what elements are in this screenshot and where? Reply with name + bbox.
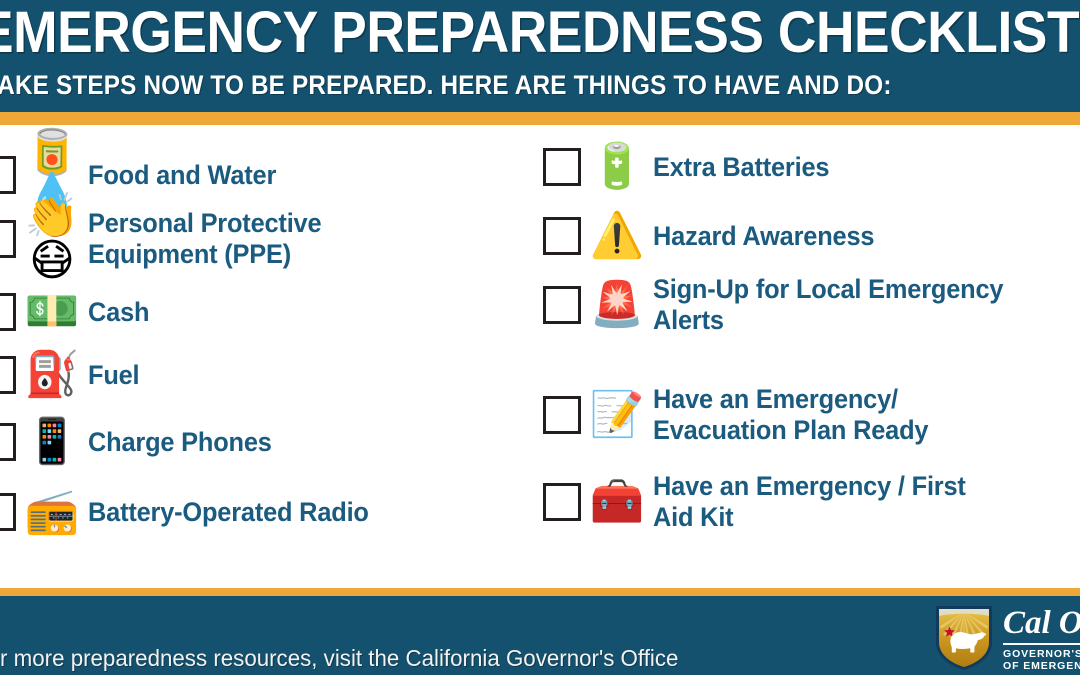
checklist-item[interactable]: 👏😷Personal Protective Equipment (PPE) xyxy=(0,207,518,271)
checklist-item-label: Fuel xyxy=(88,360,492,391)
checklist-item-label: Charge Phones xyxy=(88,427,492,458)
header-banner: EMERGENCY PREPAREDNESS CHECKLIST TAKE ST… xyxy=(0,0,1080,112)
checklist-item[interactable]: 📱Charge Phones xyxy=(0,410,518,474)
checkbox[interactable] xyxy=(0,220,16,258)
mobile-phone-icon: 📱 xyxy=(16,420,88,464)
checklist-item[interactable]: 🧰Have an Emergency / First Aid Kit xyxy=(543,470,1080,534)
checklist-item[interactable]: ⛽Fuel xyxy=(0,343,518,407)
california-bear-shield-icon xyxy=(936,606,992,670)
clipboard-with-pencil-icon: 📝 xyxy=(581,393,653,437)
warning-triangle-icon: ⚠️ xyxy=(581,214,653,258)
gloves-and-face-mask-icon: 👏😷 xyxy=(16,195,88,283)
footer-banner: For more preparedness resources, visit t… xyxy=(0,596,1080,675)
checkbox[interactable] xyxy=(543,217,581,255)
checkbox[interactable] xyxy=(543,483,581,521)
checkbox[interactable] xyxy=(0,423,16,461)
radio-icon: 📻 xyxy=(16,490,88,534)
checklist-item[interactable]: 🔋Extra Batteries xyxy=(543,135,1080,199)
logo-divider-rule xyxy=(1003,643,1080,645)
cal-oes-tagline: GOVERNOR'S OFFICE OF EMERGENCY SERVICES xyxy=(1003,648,1080,672)
gold-divider-bottom xyxy=(0,588,1080,596)
first-aid-kit-icon: 🧰 xyxy=(581,480,653,524)
cal-oes-logo: Cal OES GOVERNOR'S OFFICE OF EMERGENCY S… xyxy=(936,605,1080,671)
checklist-item[interactable]: 💵Cash xyxy=(0,280,518,344)
checklist-item-label: Food and Water xyxy=(88,160,492,191)
checklist-column-left: 🥫💧Food and Water👏😷Personal Protective Eq… xyxy=(0,125,518,588)
dollar-banknotes-icon: 💵 xyxy=(16,290,88,334)
rotating-alert-light-icon: 🚨 xyxy=(581,283,653,327)
page-title: EMERGENCY PREPAREDNESS CHECKLIST xyxy=(0,2,1027,64)
cal-oes-wordmark: Cal OES GOVERNOR'S OFFICE OF EMERGENCY S… xyxy=(1003,605,1080,672)
checklist-item-label: Hazard Awareness xyxy=(653,221,1076,252)
checkbox[interactable] xyxy=(0,356,16,394)
checkbox[interactable] xyxy=(0,293,16,331)
checklist-item-label: Cash xyxy=(88,297,492,328)
checklist-item-label: Sign-Up for Local Emergency Alerts xyxy=(653,274,1076,336)
footer-line-1: For more preparedness resources, visit t… xyxy=(0,645,678,671)
gold-divider-top xyxy=(0,112,1080,125)
checklist-item-label: Have an Emergency/ Evacuation Plan Ready xyxy=(653,384,1076,446)
checklist-column-right: 🔋Extra Batteries⚠️Hazard Awareness🚨Sign-… xyxy=(543,125,1080,588)
checkbox[interactable] xyxy=(0,493,16,531)
footer-text: For more preparedness resources, visit t… xyxy=(0,609,847,675)
checkbox[interactable] xyxy=(0,156,16,194)
header-subtitle: TAKE STEPS NOW TO BE PREPARED. HERE ARE … xyxy=(0,70,1028,100)
checklist-item[interactable]: 📝Have an Emergency/ Evacuation Plan Read… xyxy=(543,383,1080,447)
checklist-item-label: Personal Protective Equipment (PPE) xyxy=(88,208,492,270)
checkbox[interactable] xyxy=(543,148,581,186)
checklist-item[interactable]: 🚨Sign-Up for Local Emergency Alerts xyxy=(543,273,1080,337)
cal-oes-name: Cal OES xyxy=(1003,607,1080,640)
battery-icon: 🔋 xyxy=(581,145,653,189)
checkbox[interactable] xyxy=(543,286,581,324)
fuel-pump-icon: ⛽ xyxy=(16,353,88,397)
checklist-item[interactable]: 📻Battery-Operated Radio xyxy=(0,480,518,544)
checklist-item[interactable]: ⚠️Hazard Awareness xyxy=(543,204,1080,268)
checklist-item-label: Battery-Operated Radio xyxy=(88,497,492,528)
checklist-item-label: Have an Emergency / First Aid Kit xyxy=(653,471,1076,533)
checklist-item-label: Extra Batteries xyxy=(653,152,1076,183)
checklist-content: 🥫💧Food and Water👏😷Personal Protective Eq… xyxy=(0,125,1080,588)
checkbox[interactable] xyxy=(543,396,581,434)
